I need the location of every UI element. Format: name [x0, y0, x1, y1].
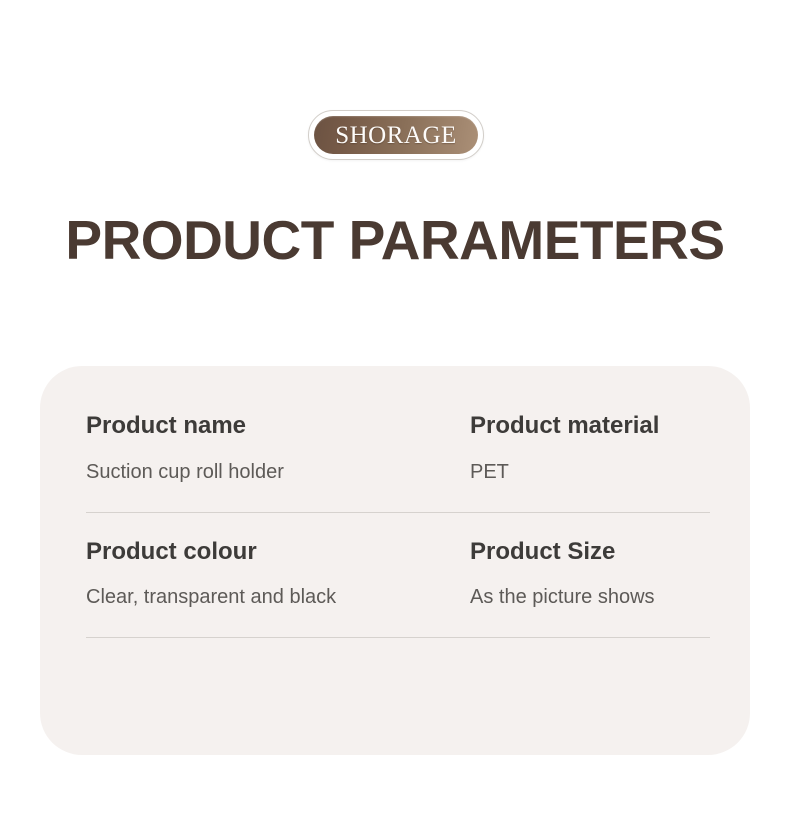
spec-value: As the picture shows [470, 585, 718, 609]
spec-value: PET [470, 460, 718, 484]
brand-badge: SHORAGE [308, 110, 484, 160]
spec-cell-product-name: Product name Suction cup roll holder [72, 412, 456, 484]
spec-value: Clear, transparent and black [86, 585, 456, 609]
spec-label: Product name [86, 412, 456, 440]
spec-row: Product colour Clear, transparent and bl… [72, 513, 718, 639]
brand-badge-pill: SHORAGE [314, 116, 478, 154]
spec-label: Product colour [86, 538, 456, 566]
spec-label: Product material [470, 412, 718, 440]
brand-badge-label: SHORAGE [335, 123, 457, 148]
spec-table: Product name Suction cup roll holder Pro… [72, 366, 718, 638]
spec-label: Product Size [470, 538, 718, 566]
spec-cell-product-size: Product Size As the picture shows [456, 538, 718, 610]
spec-row: Product name Suction cup roll holder Pro… [72, 366, 718, 513]
product-parameters-card: Product name Suction cup roll holder Pro… [40, 366, 750, 755]
spec-cell-product-material: Product material PET [456, 412, 718, 484]
page-title: PRODUCT PARAMETERS [0, 210, 790, 271]
spec-value: Suction cup roll holder [86, 460, 456, 484]
spec-cell-product-colour: Product colour Clear, transparent and bl… [72, 538, 456, 610]
